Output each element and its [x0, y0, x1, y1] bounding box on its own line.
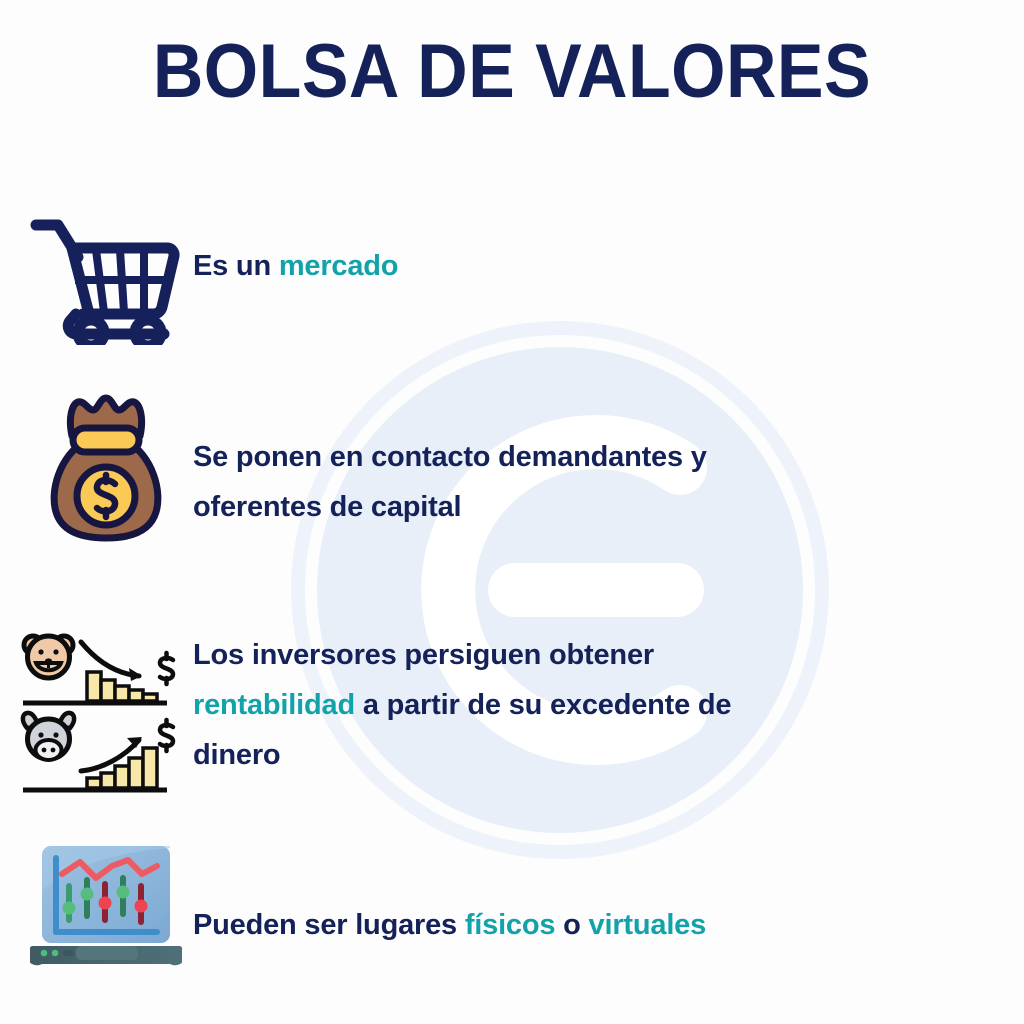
bullet-text-2: Se ponen en contacto demandantes y ofere… — [193, 392, 707, 532]
text-segment: Es un — [193, 250, 279, 282]
text-line: rentabilidad a partir de su excedente de — [193, 680, 731, 730]
text-segment-accent: virtuales — [589, 909, 707, 941]
icon-cell-3 — [8, 628, 193, 798]
text-line: Pueden ser lugares físicos o virtuales — [193, 900, 706, 950]
text-segment: Se ponen en contacto demandantes y — [193, 441, 707, 473]
money-bag-icon — [46, 392, 166, 544]
text-line: oferentes de capital — [193, 482, 707, 532]
bullet-row-market: Es un mercado — [18, 205, 998, 345]
text-segment-accent: rentabilidad — [193, 689, 355, 721]
dollar-sign-icon — [160, 653, 173, 684]
bullet-text-3: Los inversores persiguen obtener rentabi… — [193, 628, 731, 780]
bullet-row-capital: Se ponen en contacto demandantes y ofere… — [18, 392, 998, 544]
icon-cell-4 — [18, 840, 193, 976]
shopping-cart-icon — [28, 205, 183, 345]
text-line: Es un mercado — [193, 241, 398, 291]
text-segment: Pueden ser lugares — [193, 909, 465, 941]
text-segment: oferentes de capital — [193, 491, 461, 523]
infographic-canvas: BOLSA DE VALORES — [0, 0, 1024, 1024]
bear-bull-market-chart-icon — [15, 628, 187, 798]
bullet-row-profitability: Los inversores persiguen obtener rentabi… — [8, 628, 1008, 798]
text-segment: dinero — [193, 739, 280, 771]
text-segment: o — [555, 909, 588, 941]
bullet-text-4: Pueden ser lugares físicos o virtuales — [193, 840, 706, 950]
page-title: BOLSA DE VALORES — [41, 24, 983, 120]
bull-head-icon — [22, 713, 73, 760]
bullet-text-1: Es un mercado — [193, 205, 398, 291]
text-line: Se ponen en contacto demandantes y — [193, 432, 707, 482]
laptop-candlestick-chart-icon — [30, 840, 182, 976]
icon-cell-2 — [18, 392, 193, 544]
text-segment: a partir de su excedente de — [355, 689, 731, 721]
icon-cell-1 — [18, 205, 193, 345]
dollar-sign-icon — [160, 720, 173, 751]
text-segment-accent: físicos — [465, 909, 555, 941]
bear-head-icon — [24, 636, 73, 678]
text-segment-accent: mercado — [279, 250, 399, 282]
text-line: dinero — [193, 730, 731, 780]
bullet-row-places: Pueden ser lugares físicos o virtuales — [18, 840, 998, 976]
text-segment: Los inversores persiguen obtener — [193, 639, 654, 671]
text-line: Los inversores persiguen obtener — [193, 630, 731, 680]
